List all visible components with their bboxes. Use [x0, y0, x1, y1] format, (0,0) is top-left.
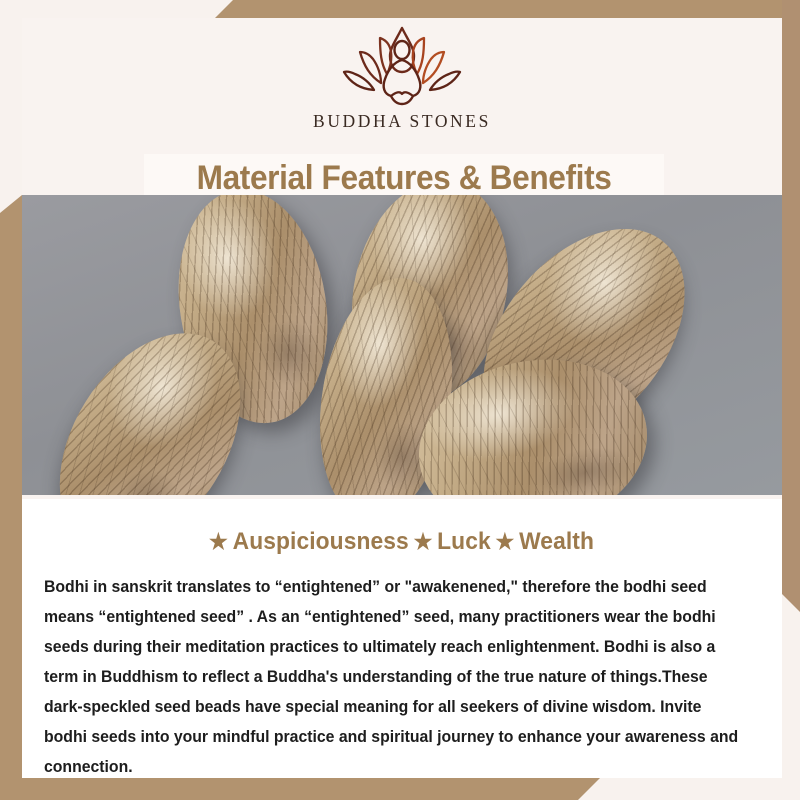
brand-name: BUDDHA STONES [307, 111, 497, 132]
star-icon: ★ [207, 529, 230, 554]
frame-band-right [782, 0, 800, 612]
inner-page: BUDDHA STONES Material Features & Benefi… [22, 18, 782, 778]
brand-logo: BUDDHA STONES [307, 22, 497, 132]
star-icon: ★ [412, 529, 435, 554]
frame-band-top [215, 0, 800, 18]
frame-band-left [0, 195, 22, 800]
benefit-label-auspiciousness: Auspiciousness [230, 528, 412, 555]
page-title: Material Features & Benefits [197, 159, 612, 198]
benefit-label-wealth: Wealth [516, 528, 597, 555]
benefits-line: ★Auspiciousness★Luck★Wealth [41, 528, 763, 556]
benefit-label-luck: Luck [434, 528, 493, 555]
brand-header: BUDDHA STONES [22, 18, 782, 148]
description-text: Bodhi in sanskrit translates to “entight… [44, 572, 739, 782]
description-panel: ★Auspiciousness★Luck★Wealth Bodhi in san… [22, 499, 782, 778]
infographic-page: BUDDHA STONES Material Features & Benefi… [0, 0, 800, 800]
bodhi-seed-photo: Bodhi Seed [22, 195, 782, 495]
lotus-meditation-icon [336, 22, 468, 110]
star-icon: ★ [494, 529, 517, 554]
